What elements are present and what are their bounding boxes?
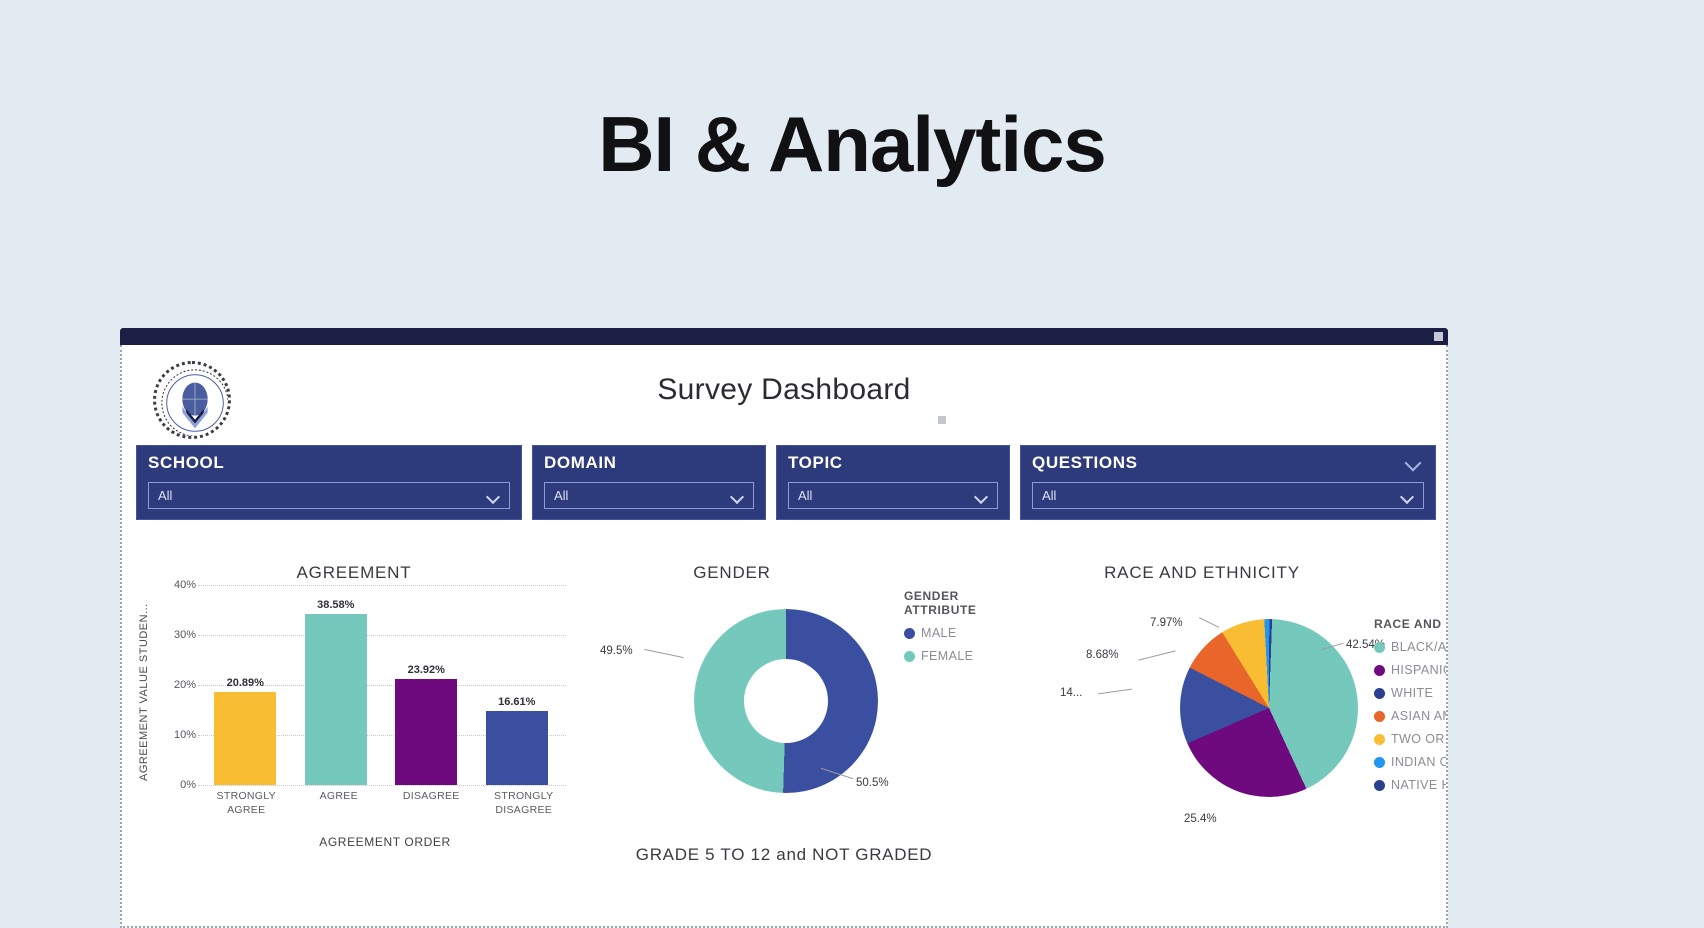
legend-label: ASIAN AMERI... xyxy=(1391,709,1448,723)
legend-item-male[interactable]: MALE xyxy=(904,626,1012,640)
chart-agreement-bars: 20.89% 38.58% 23.92% 16.61% xyxy=(200,585,562,785)
bar-value-label: 23.92% xyxy=(408,664,445,676)
ytick-20: 20% xyxy=(170,679,196,691)
filter-school-value: All xyxy=(158,488,172,503)
pie-label-white: 14... xyxy=(1060,687,1082,699)
bar-disagree[interactable]: 23.92% xyxy=(386,585,466,785)
window-resize-grip[interactable] xyxy=(1434,332,1443,341)
chart-gender: GENDER 49.5% 50.5% GENDER ATTRIBUTE MALE… xyxy=(582,567,1012,867)
legend-item-female[interactable]: FEMALE xyxy=(904,649,1012,663)
legend-label: WHITE xyxy=(1391,686,1433,700)
legend-label: FEMALE xyxy=(921,649,973,663)
xlabel-strongly-agree: STRONGLY AGREE xyxy=(206,789,287,817)
bottom-section-title: GRADE 5 TO 12 and NOT GRADED xyxy=(122,845,1446,865)
filter-topic[interactable]: TOPIC All xyxy=(776,445,1010,520)
legend-item-black[interactable]: BLACK/AFRIC... xyxy=(1374,640,1448,654)
legend-item-native-hawaiian[interactable]: NATIVE HAW... xyxy=(1374,778,1448,792)
filter-bar: SCHOOL All DOMAIN All TOPIC All xyxy=(136,445,1436,520)
chevron-down-icon xyxy=(1401,492,1414,500)
legend-swatch-icon xyxy=(1374,711,1385,722)
legend-item-asian[interactable]: ASIAN AMERI... xyxy=(1374,709,1448,723)
legend-swatch-icon xyxy=(1374,665,1385,676)
filter-questions-select[interactable]: All xyxy=(1032,482,1424,509)
title-drag-handle[interactable] xyxy=(938,416,946,424)
legend-swatch-icon xyxy=(1374,757,1385,768)
filter-school-select[interactable]: All xyxy=(148,482,510,509)
xlabel-strongly-disagree: STRONGLY DISAGREE xyxy=(483,789,564,817)
chevron-down-icon[interactable] xyxy=(1407,457,1423,467)
chart-agreement-title: AGREEMENT xyxy=(134,563,574,583)
ytick-40: 40% xyxy=(170,579,196,591)
filter-school[interactable]: SCHOOL All xyxy=(136,445,522,520)
filter-questions[interactable]: QUESTIONS All xyxy=(1020,445,1436,520)
chevron-down-icon xyxy=(487,492,500,500)
legend-item-two-or-more[interactable]: TWO OR MO... xyxy=(1374,732,1448,746)
legend-swatch-icon xyxy=(1374,734,1385,745)
legend-label: BLACK/AFRIC... xyxy=(1391,640,1448,654)
chart-gender-legend: GENDER ATTRIBUTE MALE FEMALE xyxy=(904,589,1012,672)
filter-questions-label: QUESTIONS xyxy=(1032,453,1424,473)
dashboard-window: Survey Dashboard SCHOOL All DOMAIN All T… xyxy=(120,328,1448,928)
dashboard-canvas: Survey Dashboard SCHOOL All DOMAIN All T… xyxy=(120,345,1448,928)
chart-agreement-plot: 40% 30% 20% 10% 0% 20.89% 38.58% 23.92% xyxy=(170,585,566,785)
ytick-30: 30% xyxy=(170,629,196,641)
bar-strongly-agree[interactable]: 20.89% xyxy=(205,585,285,785)
legend-label: MALE xyxy=(921,626,957,640)
filter-domain-value: All xyxy=(554,488,568,503)
bar-value-label: 16.61% xyxy=(498,696,535,708)
filter-topic-select[interactable]: All xyxy=(788,482,998,509)
pie-label-asian: 8.68% xyxy=(1086,649,1119,661)
chart-agreement: AGREEMENT AGREEMENT VALUE STUDEN... 40% … xyxy=(134,567,574,867)
filter-domain-label: DOMAIN xyxy=(544,453,754,473)
legend-swatch-icon xyxy=(1374,688,1385,699)
legend-label: INDIAN OR A... xyxy=(1391,755,1448,769)
legend-swatch-icon xyxy=(904,651,915,662)
chevron-down-icon xyxy=(975,492,988,500)
legend-title: GENDER ATTRIBUTE xyxy=(904,589,1012,617)
filter-topic-value: All xyxy=(798,488,812,503)
chart-agreement-xlabels: STRONGLY AGREE AGREE DISAGREE STRONGLY D… xyxy=(200,789,570,817)
chart-gender-donut[interactable] xyxy=(694,609,878,793)
bar-strongly-disagree[interactable]: 16.61% xyxy=(477,585,557,785)
chart-race-ethnicity: RACE AND ETHNICITY 42.54% 25.4% 14... 8.… xyxy=(1002,567,1442,867)
ytick-0: 0% xyxy=(170,779,196,791)
legend-swatch-icon xyxy=(1374,780,1385,791)
filter-domain-select[interactable]: All xyxy=(544,482,754,509)
chart-race-legend: RACE AND ETH... BLACK/AFRIC... HISPANIC … xyxy=(1374,617,1448,801)
legend-item-white[interactable]: WHITE xyxy=(1374,686,1448,700)
pie-label-hispanic: 25.4% xyxy=(1184,813,1217,825)
donut-label-male: 50.5% xyxy=(856,777,889,789)
pie-label-two-or-more: 7.97% xyxy=(1150,617,1183,629)
bar-agree[interactable]: 38.58% xyxy=(296,585,376,785)
legend-swatch-icon xyxy=(904,628,915,639)
chart-agreement-ylabel: AGREEMENT VALUE STUDEN... xyxy=(138,581,150,781)
ytick-10: 10% xyxy=(170,729,196,741)
chart-race-title: RACE AND ETHNICITY xyxy=(1062,563,1342,583)
page-title: BI & Analytics xyxy=(0,0,1704,183)
chevron-down-icon xyxy=(731,492,744,500)
xlabel-agree: AGREE xyxy=(298,789,379,817)
legend-label: HISPANIC xyxy=(1391,663,1448,677)
legend-label: NATIVE HAW... xyxy=(1391,778,1448,792)
bar-value-label: 20.89% xyxy=(227,677,264,689)
legend-label: TWO OR MO... xyxy=(1391,732,1448,746)
donut-label-female: 49.5% xyxy=(600,645,633,657)
xlabel-disagree: DISAGREE xyxy=(391,789,472,817)
legend-title: RACE AND ETH... xyxy=(1374,617,1448,631)
filter-topic-label: TOPIC xyxy=(788,453,998,473)
filter-school-label: SCHOOL xyxy=(148,453,510,473)
legend-item-indian[interactable]: INDIAN OR A... xyxy=(1374,755,1448,769)
chart-gender-title: GENDER xyxy=(582,563,882,583)
legend-item-hispanic[interactable]: HISPANIC xyxy=(1374,663,1448,677)
dashboard-title: Survey Dashboard xyxy=(122,373,1446,407)
window-titlebar xyxy=(120,328,1448,345)
bar-value-label: 38.58% xyxy=(317,599,354,611)
filter-questions-value: All xyxy=(1042,488,1056,503)
legend-swatch-icon xyxy=(1374,642,1385,653)
filter-domain[interactable]: DOMAIN All xyxy=(532,445,766,520)
